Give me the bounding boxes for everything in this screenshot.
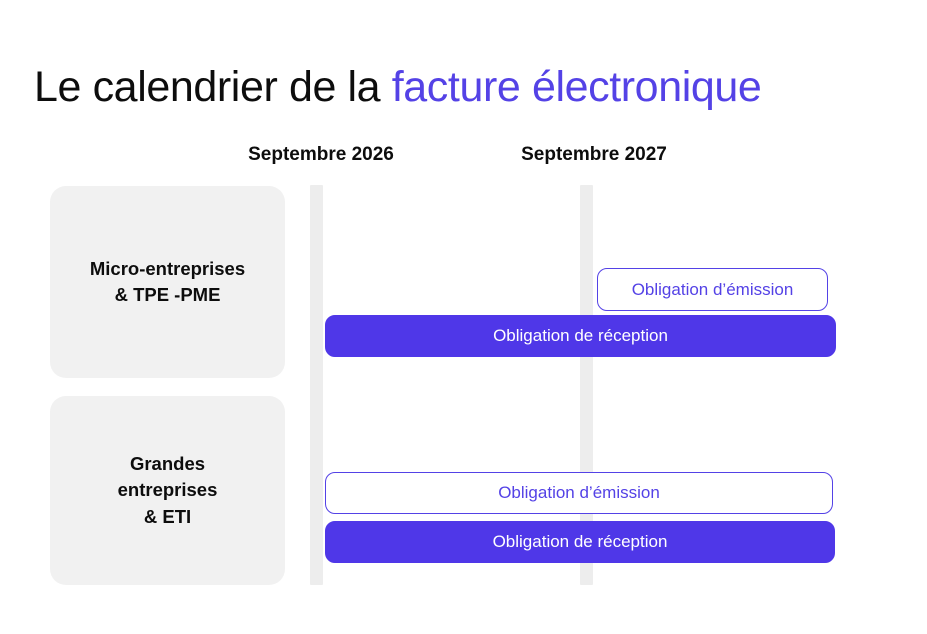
bar-micro-obligation-emission: Obligation d’émission <box>597 268 828 311</box>
bar-grandes-obligation-emission: Obligation d’émission <box>325 472 833 514</box>
category-label: Micro-entreprises & TPE -PME <box>80 256 255 309</box>
bar-grandes-obligation-reception: Obligation de réception <box>325 521 835 563</box>
category-box-micro-tpe-pme: Micro-entreprises & TPE -PME <box>50 186 285 378</box>
milestone-label-2026: Septembre 2026 <box>248 144 394 166</box>
category-box-grandes-entreprises-eti: Grandes entreprises & ETI <box>50 396 285 585</box>
bar-micro-obligation-reception: Obligation de réception <box>325 315 836 357</box>
category-label: Grandes entreprises & ETI <box>108 451 228 530</box>
timeline-chart: Septembre 2026 Septembre 2027 Micro-entr… <box>0 0 927 634</box>
milestone-guide-2026 <box>310 185 323 585</box>
milestone-label-2027: Septembre 2027 <box>521 144 667 166</box>
